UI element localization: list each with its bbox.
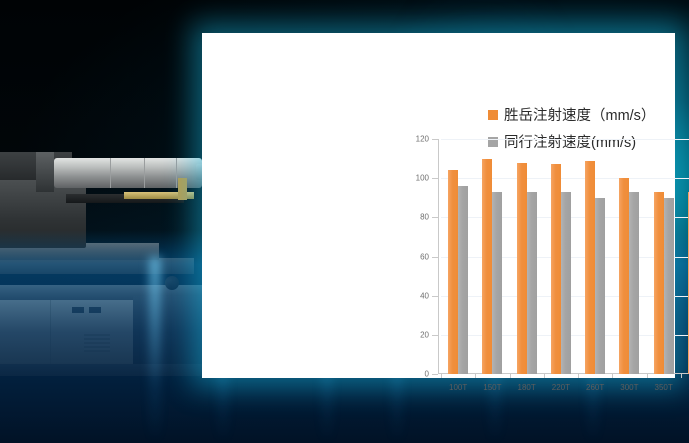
bar-group: 180T bbox=[510, 139, 544, 374]
bar-groups: 100T150T180T220T260T300T350T420T500T700T… bbox=[441, 139, 689, 374]
y-axis-tick-label: 0 bbox=[425, 370, 429, 379]
plot-area: 020406080100120 100T150T180T220T260T300T… bbox=[441, 139, 689, 374]
bar-series-1[interactable] bbox=[517, 163, 527, 375]
machine-barrel-seam-3 bbox=[176, 158, 177, 188]
bar-group: 350T bbox=[647, 139, 681, 374]
x-axis-tick bbox=[578, 374, 579, 378]
x-axis-tick-label: 150T bbox=[483, 383, 501, 392]
x-axis-tick bbox=[647, 374, 648, 378]
bar-series-1[interactable] bbox=[619, 178, 629, 374]
bar-series-2[interactable] bbox=[595, 198, 605, 374]
bar-group: 420T bbox=[681, 139, 689, 374]
legend-swatch-series-1 bbox=[488, 110, 498, 120]
y-axis-tick bbox=[432, 257, 438, 258]
x-axis-tick-label: 220T bbox=[552, 383, 570, 392]
x-axis-tick bbox=[510, 374, 511, 378]
bar-group: 260T bbox=[578, 139, 612, 374]
y-axis-line bbox=[438, 139, 439, 374]
x-axis-tick-label: 300T bbox=[620, 383, 638, 392]
machine-clamp-block bbox=[36, 152, 54, 192]
machine-barrel-seam-2 bbox=[144, 158, 145, 188]
bar-series-2[interactable] bbox=[561, 192, 571, 374]
bar-group: 150T bbox=[475, 139, 509, 374]
bar-series-1[interactable] bbox=[482, 159, 492, 374]
bar-chart: 胜岳注射速度（mm/s） 同行注射速度(mm/s) 02040608010012… bbox=[202, 33, 675, 378]
bar-series-2[interactable] bbox=[458, 186, 468, 374]
chart-panel: 胜岳注射速度（mm/s） 同行注射速度(mm/s) 02040608010012… bbox=[202, 33, 675, 378]
x-axis-tick bbox=[475, 374, 476, 378]
bar-series-2[interactable] bbox=[664, 198, 674, 374]
bar-series-2[interactable] bbox=[629, 192, 639, 374]
bar-group: 220T bbox=[544, 139, 578, 374]
y-axis-tick bbox=[432, 335, 438, 336]
bar-group: 100T bbox=[441, 139, 475, 374]
y-axis-tick-label: 40 bbox=[420, 291, 429, 300]
x-axis-tick-label: 350T bbox=[655, 383, 673, 392]
x-axis-tick bbox=[681, 374, 682, 378]
bar-series-1[interactable] bbox=[585, 161, 595, 374]
y-axis-tick-label: 80 bbox=[420, 213, 429, 222]
y-axis-tick-label: 120 bbox=[416, 135, 429, 144]
machine-brass-collar bbox=[178, 178, 187, 200]
y-axis-tick bbox=[432, 217, 438, 218]
legend-item-series-1[interactable]: 胜岳注射速度（mm/s） bbox=[488, 101, 655, 128]
y-axis-tick bbox=[432, 178, 438, 179]
y-axis-tick-label: 60 bbox=[420, 252, 429, 261]
y-axis-tick bbox=[432, 374, 438, 375]
x-axis-tick bbox=[544, 374, 545, 378]
x-axis-tick bbox=[441, 374, 442, 378]
bar-series-1[interactable] bbox=[448, 170, 458, 374]
x-axis-tick bbox=[612, 374, 613, 378]
y-axis-tick-label: 20 bbox=[420, 330, 429, 339]
x-axis-tick-label: 100T bbox=[449, 383, 467, 392]
bar-series-1[interactable] bbox=[551, 164, 561, 374]
bar-series-1[interactable] bbox=[654, 192, 664, 374]
x-axis-tick-label: 260T bbox=[586, 383, 604, 392]
machine-barrel-seam-1 bbox=[110, 158, 111, 188]
legend-label-series-1: 胜岳注射速度（mm/s） bbox=[504, 104, 655, 125]
y-axis-tick bbox=[432, 139, 438, 140]
y-axis-tick-label: 100 bbox=[416, 174, 429, 183]
bar-series-2[interactable] bbox=[492, 192, 502, 374]
light-streak-1 bbox=[150, 257, 160, 443]
slide-canvas: 胜岳注射速度（mm/s） 同行注射速度(mm/s) 02040608010012… bbox=[0, 0, 689, 443]
bar-series-2[interactable] bbox=[527, 192, 537, 374]
x-axis-tick-label: 180T bbox=[518, 383, 536, 392]
bar-group: 300T bbox=[612, 139, 646, 374]
y-axis-tick bbox=[432, 296, 438, 297]
